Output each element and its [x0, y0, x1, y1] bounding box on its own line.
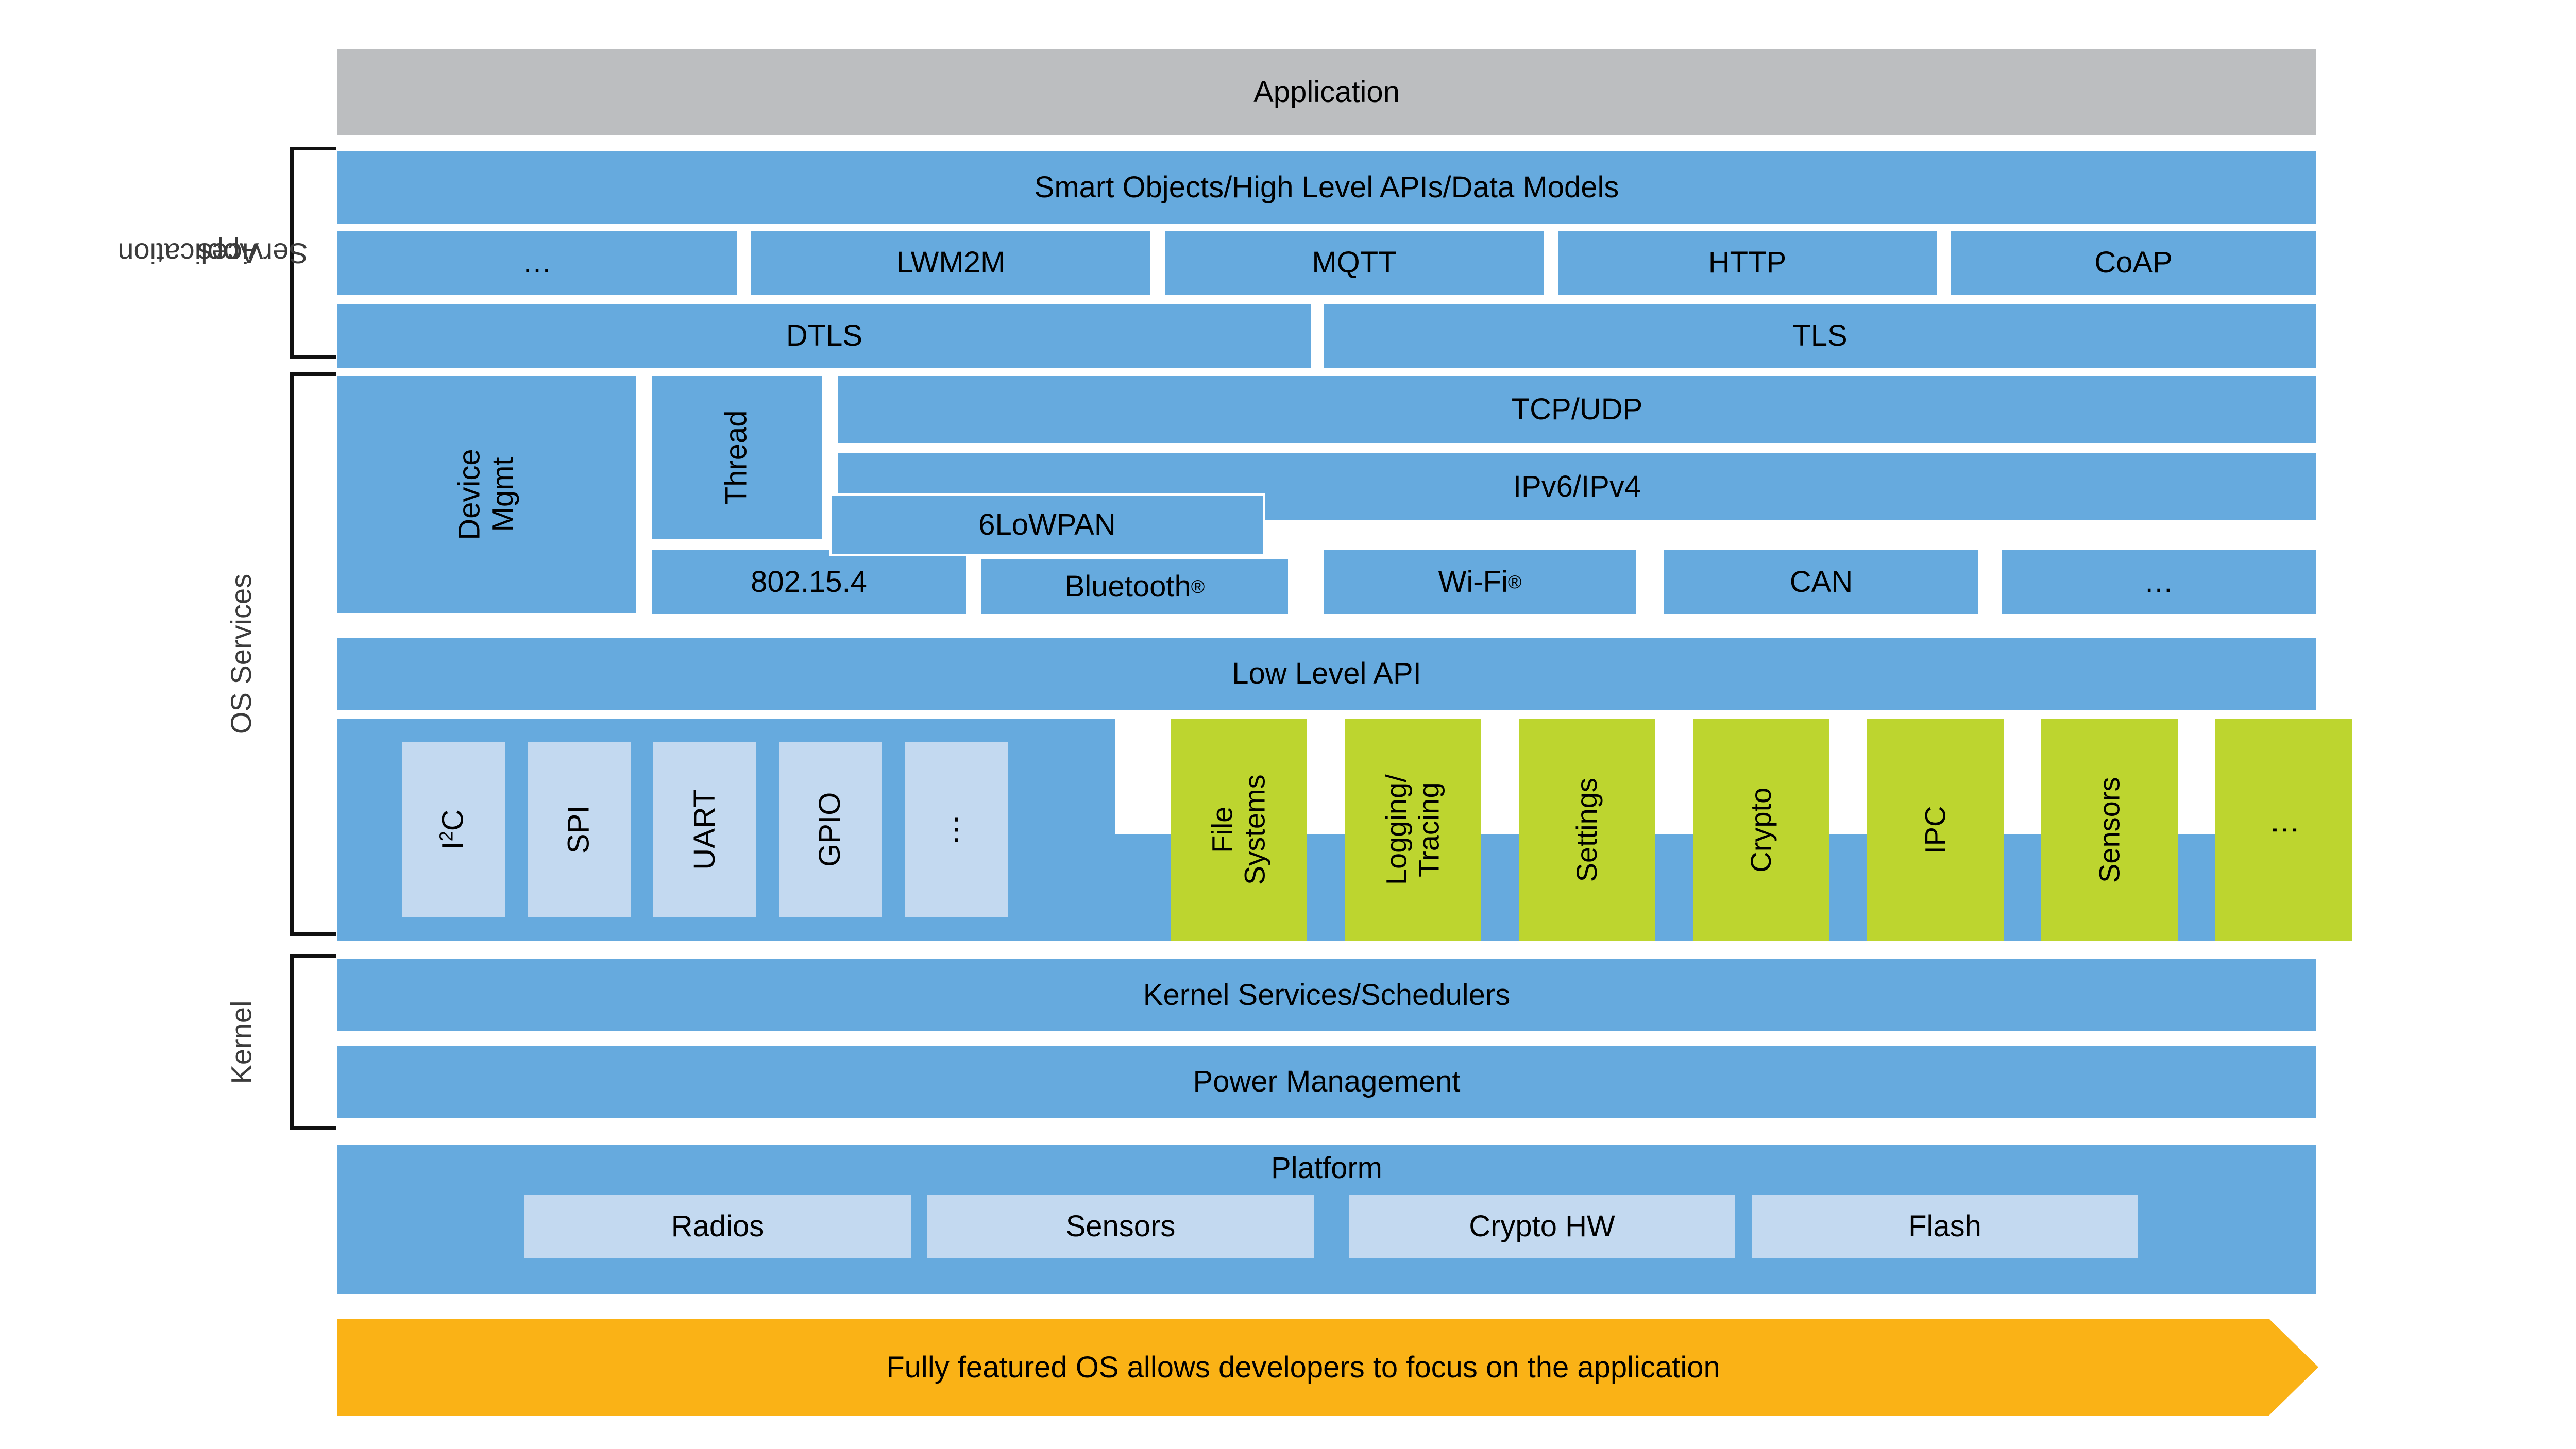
service-settings[interactable]: Settings [1519, 719, 1655, 941]
driver-uart[interactable]: UART [653, 742, 756, 917]
service-settings-label: Settings [1571, 778, 1602, 882]
radio-bluetooth-label: Bluetooth [1065, 571, 1191, 603]
banner-text: Fully featured OS allows developers to f… [337, 1319, 2318, 1416]
radio-wifi-label: Wi-Fi [1438, 566, 1508, 599]
device-mgmt-line: Device [453, 449, 486, 540]
power-management[interactable]: Power Management [337, 1046, 2316, 1118]
driver-spi[interactable]: SPI [528, 742, 631, 917]
thread-block[interactable]: Thread [652, 376, 822, 539]
driver-uart-label: UART [689, 789, 721, 870]
protocol-mqtt[interactable]: MQTT [1165, 231, 1544, 295]
radio-wifi[interactable]: Wi-Fi® [1324, 550, 1636, 614]
radio-bluetooth[interactable]: Bluetooth® [981, 559, 1288, 614]
device-mgmt-block[interactable]: Device Mgmt [337, 376, 636, 613]
protocol-http[interactable]: HTTP [1558, 231, 1937, 295]
side-label-line: OS Services [224, 574, 258, 734]
thread-label: Thread [721, 410, 753, 505]
driver-gpio-label: GPIO [815, 792, 847, 866]
service-crypto[interactable]: Crypto [1693, 719, 1829, 941]
service-line: File [1206, 807, 1239, 853]
low-level-api-block[interactable]: Low Level API [337, 638, 2316, 710]
application-block[interactable]: Application [337, 49, 2316, 135]
platform-title: Platform [337, 1148, 2316, 1189]
side-label-os-services: OS Services [196, 372, 286, 936]
service-line: Tracing [1413, 782, 1445, 878]
service-sensors[interactable]: Sensors [2041, 719, 2178, 941]
service-sensors-label: Sensors [2094, 777, 2125, 882]
platform-item-radios[interactable]: Radios [524, 1195, 911, 1258]
service-logging-tracing[interactable]: Logging/ Tracing [1345, 719, 1481, 941]
side-label-application-services: ApplicationServices [155, 147, 286, 359]
bracket-kernel [290, 954, 336, 1130]
device-mgmt-line: Mgmt [486, 457, 520, 532]
radio-ellipsis[interactable]: … [2002, 550, 2316, 614]
radio-can[interactable]: CAN [1664, 550, 1978, 614]
summary-banner[interactable]: Fully featured OS allows developers to f… [337, 1319, 2318, 1416]
bracket-os-services [290, 372, 336, 936]
service-line: Logging/ [1380, 775, 1413, 885]
driver-ellipsis[interactable]: ⋮ [905, 742, 1008, 917]
superscript-two: 2 [435, 831, 456, 841]
platform-item-crypto-hw[interactable]: Crypto HW [1349, 1195, 1735, 1258]
platform-item-flash[interactable]: Flash [1752, 1195, 2138, 1258]
service-ipc-label: IPC [1920, 806, 1951, 854]
platform-item-sensors[interactable]: Sensors [927, 1195, 1314, 1258]
banner-label: Fully featured OS allows developers to f… [886, 1350, 1720, 1385]
side-label-kernel: Kernel [196, 954, 286, 1130]
security-tls[interactable]: TLS [1324, 304, 2316, 368]
radio-802-15-4[interactable]: 802.15.4 [652, 550, 966, 614]
side-label-line: Kernel [224, 1000, 258, 1084]
service-ipc[interactable]: IPC [1867, 719, 2004, 941]
protocol-coap[interactable]: CoAP [1951, 231, 2316, 295]
service-ellipsis[interactable]: ⋮ [2215, 719, 2352, 941]
side-label-line: Services [182, 237, 323, 269]
protocol-ellipsis[interactable]: … [337, 231, 737, 295]
security-dtls[interactable]: DTLS [337, 304, 1311, 368]
protocol-lwm2m[interactable]: LWM2M [751, 231, 1150, 295]
service-line: Systems [1238, 775, 1270, 885]
service-ellipsis-label: ⋮ [2268, 815, 2299, 844]
diagram-canvas: ApplicationServices OS Services Kernel A… [0, 0, 2576, 1449]
transport-tcp-udp[interactable]: TCP/UDP [838, 376, 2316, 443]
service-file-systems[interactable]: File Systems [1171, 719, 1307, 941]
smart-objects-block[interactable]: Smart Objects/High Level APIs/Data Model… [337, 151, 2316, 224]
service-crypto-label: Crypto [1745, 788, 1776, 873]
driver-i2c[interactable]: I2C [402, 742, 505, 917]
adaptation-6lowpan[interactable]: 6LoWPAN [829, 493, 1265, 556]
driver-gpio[interactable]: GPIO [779, 742, 882, 917]
driver-spi-label: SPI [563, 805, 596, 854]
driver-ellipsis-label: ⋮ [941, 813, 971, 846]
kernel-services-schedulers[interactable]: Kernel Services/Schedulers [337, 959, 2316, 1031]
